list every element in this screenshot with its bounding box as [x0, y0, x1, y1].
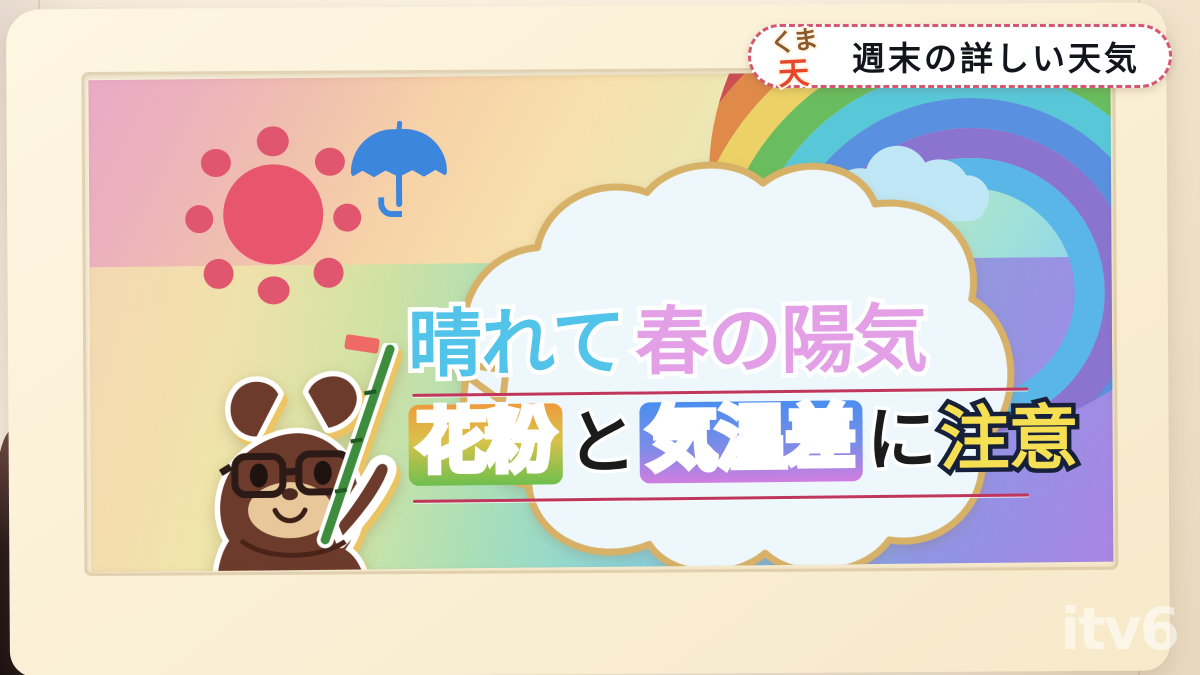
- banner-title-text: 週末の詳しい天気: [852, 24, 1150, 88]
- header-banner: くま 天 週末の詳しい天気: [748, 24, 1172, 88]
- weather-board-frame: 晴れて 春の陽気 花粉 と 気温差 に 注意: [6, 2, 1170, 675]
- kuma-ten-mascot-logo: くま 天: [758, 20, 846, 92]
- broadcast-stage: 晴れて 春の陽気 花粉 と 気温差 に 注意: [0, 0, 1200, 675]
- logo-text-ten: 天: [777, 47, 809, 94]
- station-watermark: itv6: [1060, 595, 1178, 663]
- board-inner-bevel: [84, 69, 1115, 573]
